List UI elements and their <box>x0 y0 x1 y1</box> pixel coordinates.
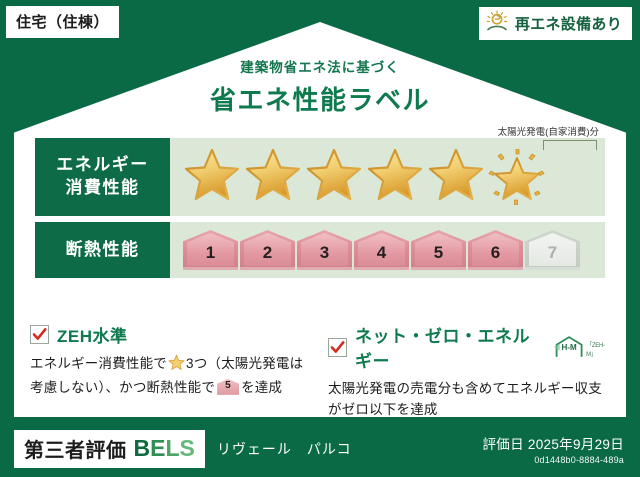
insulation-performance-row: 断熱性能 1 2 3 <box>35 222 605 278</box>
energy-performance-row: エネルギー 消費性能 <box>35 138 605 216</box>
achievement-zeh-title: ZEH水準 <box>57 322 128 347</box>
renewable-equipment-chip: 再エネ設備あり <box>479 7 632 40</box>
zeh-desc-part1: エネルギー消費性能で <box>30 356 167 371</box>
solar-sun-icon <box>485 10 509 37</box>
evaluation-date: 評価日 2025年9月29日 <box>482 433 624 453</box>
insulation-badge-group: 1 2 3 4 5 <box>170 230 580 270</box>
badge-number: 2 <box>263 243 272 270</box>
building-name: リヴェール パルコ <box>217 439 352 459</box>
zeh-desc-part3: を達成 <box>241 380 282 395</box>
insulation-label-text: 断熱性能 <box>66 239 140 262</box>
energy-performance-label: 住宅（住棟） 再エネ設備あり 建築物省エネ法に基づく <box>0 0 640 477</box>
energy-performance-label: エネルギー 消費性能 <box>35 138 170 216</box>
insulation-performance-label: 断熱性能 <box>35 222 170 278</box>
badge-number: 7 <box>548 243 557 270</box>
inline-badge-number: 5 <box>217 379 239 395</box>
star-icon <box>244 147 302 208</box>
insulation-badge: 1 <box>183 230 238 270</box>
zeh-m-house-logo: H-M 「ZEH-M」 <box>553 334 612 360</box>
evaluation-id: 0d1448b0-8884-489a <box>482 455 624 465</box>
achievement-zeh-header: ZEH水準 <box>30 322 314 347</box>
title-subtitle: 建築物省エネ法に基づく <box>0 56 640 76</box>
badge-number: 1 <box>206 243 215 270</box>
title-main: 省エネ性能ラベル <box>0 80 640 117</box>
insulation-badge: 3 <box>297 230 352 270</box>
insulation-badge: 2 <box>240 230 295 270</box>
bels-jp-label: 第三者評価 <box>24 434 127 463</box>
achievements-area: ZEH水準 エネルギー消費性能で3つ（太陽光発電は考慮しない）、かつ断熱性能で5… <box>30 322 612 421</box>
badge-number: 3 <box>320 243 329 270</box>
bels-chip: 第三者評価 BELS <box>14 430 205 468</box>
achievement-zeh: ZEH水準 エネルギー消費性能で3つ（太陽光発電は考慮しない）、かつ断熱性能で5… <box>30 322 314 421</box>
energy-label-line2: 消費性能 <box>66 177 140 200</box>
achievement-net-zero-description: 太陽光発電の売電分も含めてエネルギー収支がゼロ以下を達成 <box>328 379 612 421</box>
energy-performance-value: 太陽光発電(自家消費)分 <box>170 138 605 216</box>
badge-number: 4 <box>377 243 386 270</box>
solar-annotation-label: 太陽光発電(自家消費)分 <box>498 124 599 138</box>
insulation-badge: 6 <box>468 230 523 270</box>
insulation-badge: 4 <box>354 230 409 270</box>
star-rating <box>170 147 546 208</box>
housing-type-label: 住宅（住棟） <box>16 14 109 31</box>
bels-logo: BELS <box>134 435 195 462</box>
achievement-zeh-description: エネルギー消費性能で3つ（太陽光発電は考慮しない）、かつ断熱性能で5を達成 <box>30 354 314 399</box>
renewable-chip-label: 再エネ設備あり <box>515 13 622 34</box>
bottom-bar: 第三者評価 BELS リヴェール パルコ 評価日 2025年9月29日 0d14… <box>0 421 640 477</box>
inline-insulation-badge: 5 <box>217 379 239 395</box>
zehm-logo-caption: 「ZEH-M」 <box>586 340 612 360</box>
insulation-performance-value: 1 2 3 4 5 <box>170 222 605 278</box>
star-icon <box>305 147 363 208</box>
badge-number: 5 <box>434 243 443 270</box>
zehm-logo-text: H-M <box>562 343 577 352</box>
badge-number: 6 <box>491 243 500 270</box>
solar-bonus-star-icon <box>488 149 546 205</box>
star-icon <box>183 147 241 208</box>
star-icon <box>427 147 485 208</box>
achievement-net-zero-title: ネット・ゼロ・エネルギー <box>355 322 543 372</box>
checkbox-checked-icon <box>328 338 347 357</box>
evaluation-block: 評価日 2025年9月29日 0d1448b0-8884-489a <box>482 433 624 465</box>
title-block: 建築物省エネ法に基づく 省エネ性能ラベル <box>0 56 640 117</box>
housing-type-chip: 住宅（住棟） <box>6 6 119 38</box>
checkbox-checked-icon <box>30 325 49 344</box>
solar-bracket <box>543 140 597 150</box>
achievement-net-zero: ネット・ゼロ・エネルギー H-M 「ZEH-M」 太陽光発電の売電分も含めてエネ… <box>328 322 612 421</box>
star-icon <box>366 147 424 208</box>
insulation-badge: 5 <box>411 230 466 270</box>
achievement-net-zero-header: ネット・ゼロ・エネルギー H-M 「ZEH-M」 <box>328 322 612 372</box>
insulation-badge-inactive: 7 <box>525 230 580 270</box>
inline-star-icon <box>168 359 185 374</box>
energy-label-line1: エネルギー <box>56 154 149 177</box>
performance-panel: エネルギー 消費性能 <box>35 138 605 278</box>
